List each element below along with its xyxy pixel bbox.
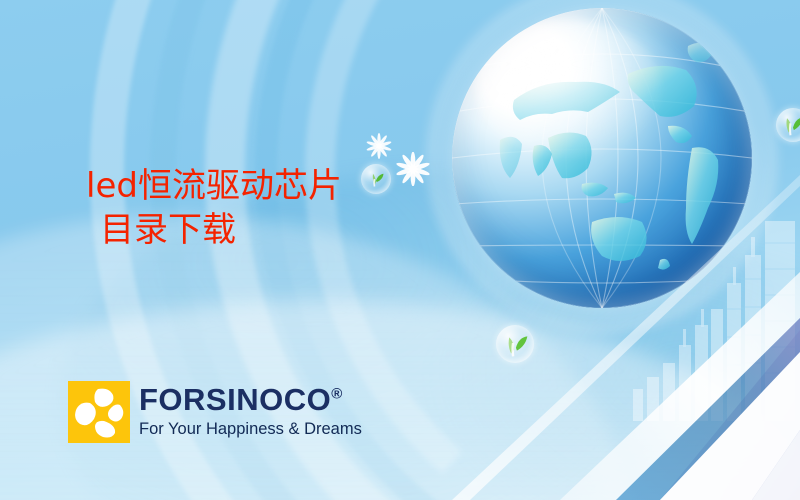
registered-trademark-icon: ®: [331, 386, 342, 403]
slide-canvas: led恒流驱动芯片 目录下载 FORSINOCO® For Your Happi…: [0, 0, 800, 500]
brand-logo: FORSINOCO® For Your Happiness & Dreams: [68, 381, 362, 443]
logo-text-lockup: FORSINOCO® For Your Happiness & Dreams: [139, 381, 362, 438]
logo-name-text: FORSINOCO: [139, 382, 331, 417]
four-petal-pinwheel-flower-icon: [68, 381, 130, 443]
headline-line-1: led恒流驱动芯片: [86, 164, 342, 208]
headline-line-2: 目录下载: [86, 208, 342, 252]
logo-wordmark: FORSINOCO®: [139, 384, 362, 415]
logo-tagline: For Your Happiness & Dreams: [139, 421, 362, 438]
logo-mark-petals: [68, 381, 130, 443]
headline: led恒流驱动芯片 目录下载: [86, 164, 342, 252]
